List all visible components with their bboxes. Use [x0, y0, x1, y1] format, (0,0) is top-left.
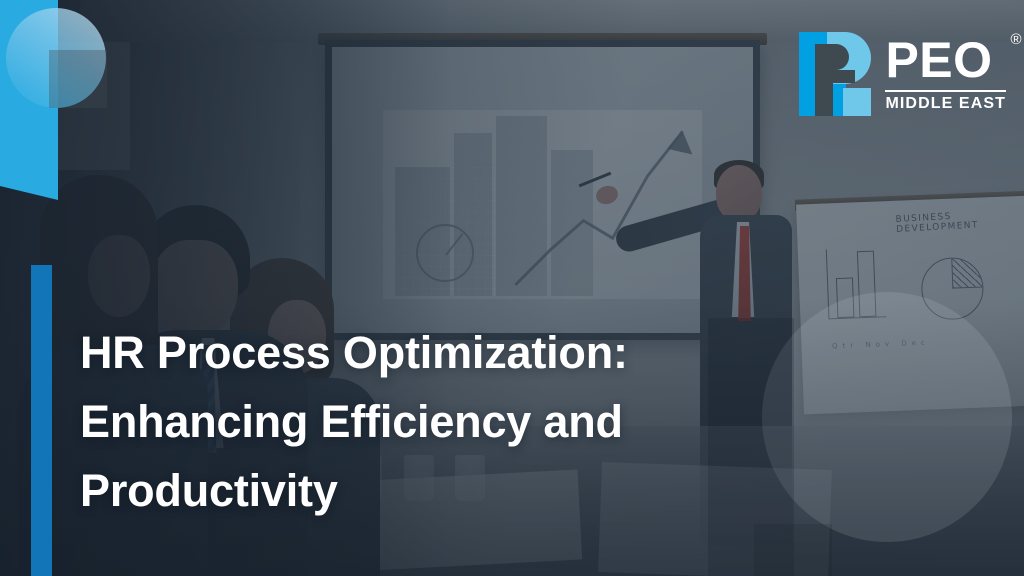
logo-subtitle: MIDDLE EAST — [885, 95, 1006, 113]
title-line-2: Enhancing Efficiency and — [80, 387, 870, 456]
logo-mark-counter — [815, 44, 849, 70]
logo-mark-crossbar-gap — [815, 70, 855, 83]
title-line-3: Productivity — [80, 456, 870, 525]
logo-name: PEO® — [885, 34, 1006, 86]
banner-root: BUSINESS DEVELOPMENT Qtr Nov Dec — [0, 0, 1024, 576]
peo-p-monogram-large-icon — [0, 0, 130, 215]
title-line-1: HR Process Optimization: — [80, 318, 870, 387]
logo-mark-stem-gap — [815, 83, 833, 116]
logo-divider — [885, 90, 1006, 92]
logo-wordmark: PEO® MIDDLE EAST — [885, 32, 1006, 113]
peo-middle-east-logo[interactable]: PEO® MIDDLE EAST — [799, 32, 1006, 116]
logo-name-text: PEO — [885, 32, 992, 88]
logo-mark-dot — [843, 88, 871, 116]
page-title: HR Process Optimization: Enhancing Effic… — [80, 318, 870, 525]
brand-mark-notch — [49, 50, 107, 108]
peo-p-monogram-icon — [799, 32, 871, 116]
watermark-dot — [754, 524, 832, 576]
left-accent-bar — [31, 265, 52, 576]
registered-trademark-icon: ® — [1010, 32, 1022, 47]
